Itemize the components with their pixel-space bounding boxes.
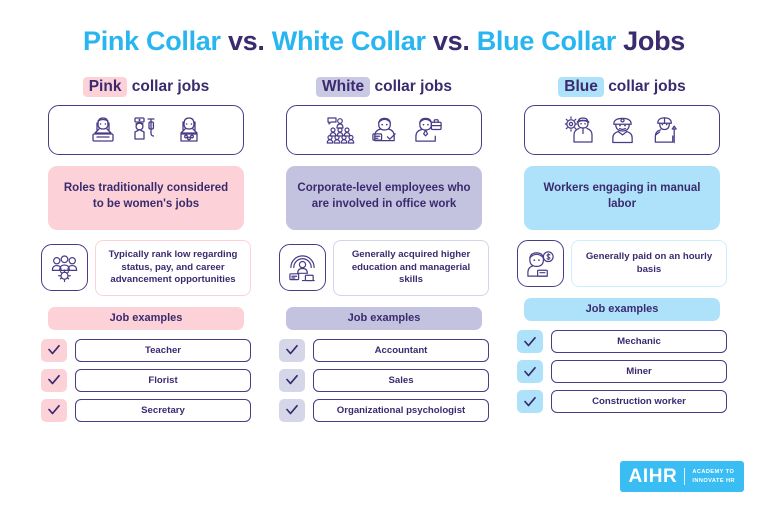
- column-heading-rest-white: collar jobs: [374, 78, 452, 95]
- group-of-women-gear-icon: [41, 244, 88, 291]
- column-heading-white: White collar jobs: [316, 78, 452, 96]
- job-label: Teacher: [75, 339, 251, 362]
- description-white: Corporate-level employees who are involv…: [286, 166, 482, 230]
- column-heading-highlight-pink: Pink: [83, 77, 128, 97]
- check-icon: [279, 339, 305, 362]
- note-text-blue: Generally paid on an hourly basis: [571, 240, 727, 287]
- mechanic-gear-icon: [564, 115, 594, 145]
- nurse-iv-drip-icon: [131, 115, 161, 145]
- job-row[interactable]: Mechanic: [517, 330, 727, 353]
- woman-florist-icon: [176, 115, 202, 145]
- title-part-pink: Pink Collar: [83, 26, 221, 56]
- job-label: Mechanic: [551, 330, 727, 353]
- icon-bar-pink: [48, 105, 244, 155]
- check-icon: [279, 369, 305, 392]
- title-part-white: White Collar: [272, 26, 426, 56]
- description-pink: Roles traditionally considered to be wom…: [48, 166, 244, 230]
- column-blue-collar: Blue collar jobs: [514, 78, 730, 429]
- column-pink-collar: Pink collar jobs: [38, 78, 254, 429]
- job-row[interactable]: Accountant: [279, 339, 489, 362]
- column-heading-highlight-blue: Blue: [558, 77, 604, 97]
- graduate-education-icon: [279, 244, 326, 291]
- title-part-blue: Blue Collar: [477, 26, 616, 56]
- icon-bar-white: [286, 105, 482, 155]
- logo-tagline: ACADEMY TO INNOVATE HR: [684, 468, 735, 485]
- job-label: Miner: [551, 360, 727, 383]
- note-row-pink: Typically rank low regarding status, pay…: [41, 240, 251, 296]
- job-row[interactable]: Teacher: [41, 339, 251, 362]
- construction-worker-shovel-icon: [651, 115, 680, 145]
- job-label: Sales: [313, 369, 489, 392]
- column-heading-rest-pink: collar jobs: [132, 78, 210, 95]
- title-vs-2: vs.: [433, 26, 470, 56]
- job-row[interactable]: Sales: [279, 369, 489, 392]
- job-row[interactable]: Miner: [517, 360, 727, 383]
- jobs-header-blue: Job examples: [524, 298, 720, 321]
- column-heading-pink: Pink collar jobs: [83, 78, 210, 96]
- logo-wordmark: AIHR: [629, 467, 685, 486]
- aihr-logo[interactable]: AIHR ACADEMY TO INNOVATE HR: [620, 461, 745, 492]
- logo-tagline-line-2: INNOVATE HR: [692, 477, 735, 485]
- description-blue: Workers engaging in manual labor: [524, 166, 720, 230]
- column-heading-blue: Blue collar jobs: [558, 78, 685, 96]
- job-label: Organizational psychologist: [313, 399, 489, 422]
- title-part-jobs: Jobs: [623, 26, 685, 56]
- check-icon: [41, 339, 67, 362]
- column-white-collar: White collar jobs: [276, 78, 492, 429]
- column-heading-highlight-white: White: [316, 77, 370, 97]
- miner-helmet-icon: [609, 115, 636, 145]
- icon-bar-blue: [524, 105, 720, 155]
- job-label: Accountant: [313, 339, 489, 362]
- note-text-white: Generally acquired higher education and …: [333, 240, 489, 296]
- jobs-header-white: Job examples: [286, 307, 482, 330]
- businessman-briefcase-icon: [414, 115, 443, 145]
- note-row-blue: Generally paid on an hourly basis: [517, 240, 727, 287]
- check-icon: [517, 360, 543, 383]
- woman-at-desk-icon: [90, 115, 116, 145]
- job-label: Secretary: [75, 399, 251, 422]
- check-icon: [517, 390, 543, 413]
- check-icon: [279, 399, 305, 422]
- column-heading-rest-blue: collar jobs: [608, 78, 686, 95]
- note-text-pink: Typically rank low regarding status, pay…: [95, 240, 251, 296]
- job-row[interactable]: Florist: [41, 369, 251, 392]
- columns-container: Pink collar jobs: [0, 78, 768, 429]
- check-icon: [41, 369, 67, 392]
- job-label: Florist: [75, 369, 251, 392]
- presentation-audience-icon: [325, 115, 355, 145]
- job-label: Construction worker: [551, 390, 727, 413]
- jobs-header-pink: Job examples: [48, 307, 244, 330]
- check-icon: [517, 330, 543, 353]
- job-row[interactable]: Organizational psychologist: [279, 399, 489, 422]
- job-row[interactable]: Construction worker: [517, 390, 727, 413]
- logo-tagline-line-1: ACADEMY TO: [692, 468, 735, 476]
- title-vs-1: vs.: [228, 26, 265, 56]
- page-title: Pink Collar vs. White Collar vs. Blue Co…: [0, 26, 768, 57]
- check-icon: [41, 399, 67, 422]
- infographic-page: Pink Collar vs. White Collar vs. Blue Co…: [0, 0, 768, 510]
- office-worker-laptop-icon: [370, 115, 399, 145]
- note-row-white: Generally acquired higher education and …: [279, 240, 489, 296]
- worker-dollar-icon: [517, 240, 564, 287]
- job-row[interactable]: Secretary: [41, 399, 251, 422]
